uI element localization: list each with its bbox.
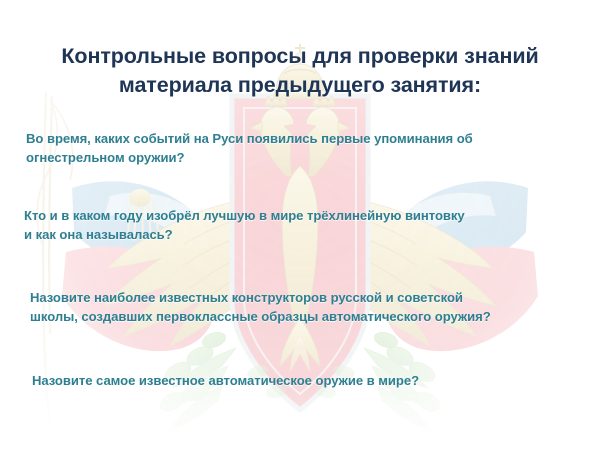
page-title-line-1: Контрольные вопросы для проверки знаний — [18, 42, 582, 70]
slide-content: Контрольные вопросы для проверки знаний … — [0, 0, 600, 450]
question-4-line-1: Назовите самое известное автоматическое … — [32, 371, 419, 390]
question-item-4: Назовите самое известное автоматическое … — [32, 371, 419, 390]
question-1-line-1: Во время, каких событий на Руси появилис… — [26, 129, 473, 148]
page-title: Контрольные вопросы для проверки знаний … — [18, 42, 582, 99]
question-item-3: Назовите наиболее известных конструкторо… — [30, 288, 491, 327]
page-title-line-2: материала предыдущего занятия: — [18, 71, 582, 99]
question-1-line-2: огнестрельном оружии? — [26, 148, 473, 167]
question-2-line-2: и как она называлась? — [24, 225, 465, 244]
question-item-1: Во время, каких событий на Руси появилис… — [26, 129, 473, 168]
question-2-line-1: Кто и в каком году изобрёл лучшую в мире… — [24, 206, 465, 225]
presentation-slide: Контрольные вопросы для проверки знаний … — [0, 0, 600, 450]
question-3-line-2: школы, создавших первоклассные образцы а… — [30, 307, 491, 326]
question-3-line-1: Назовите наиболее известных конструкторо… — [30, 288, 491, 307]
question-item-2: Кто и в каком году изобрёл лучшую в мире… — [24, 206, 465, 245]
